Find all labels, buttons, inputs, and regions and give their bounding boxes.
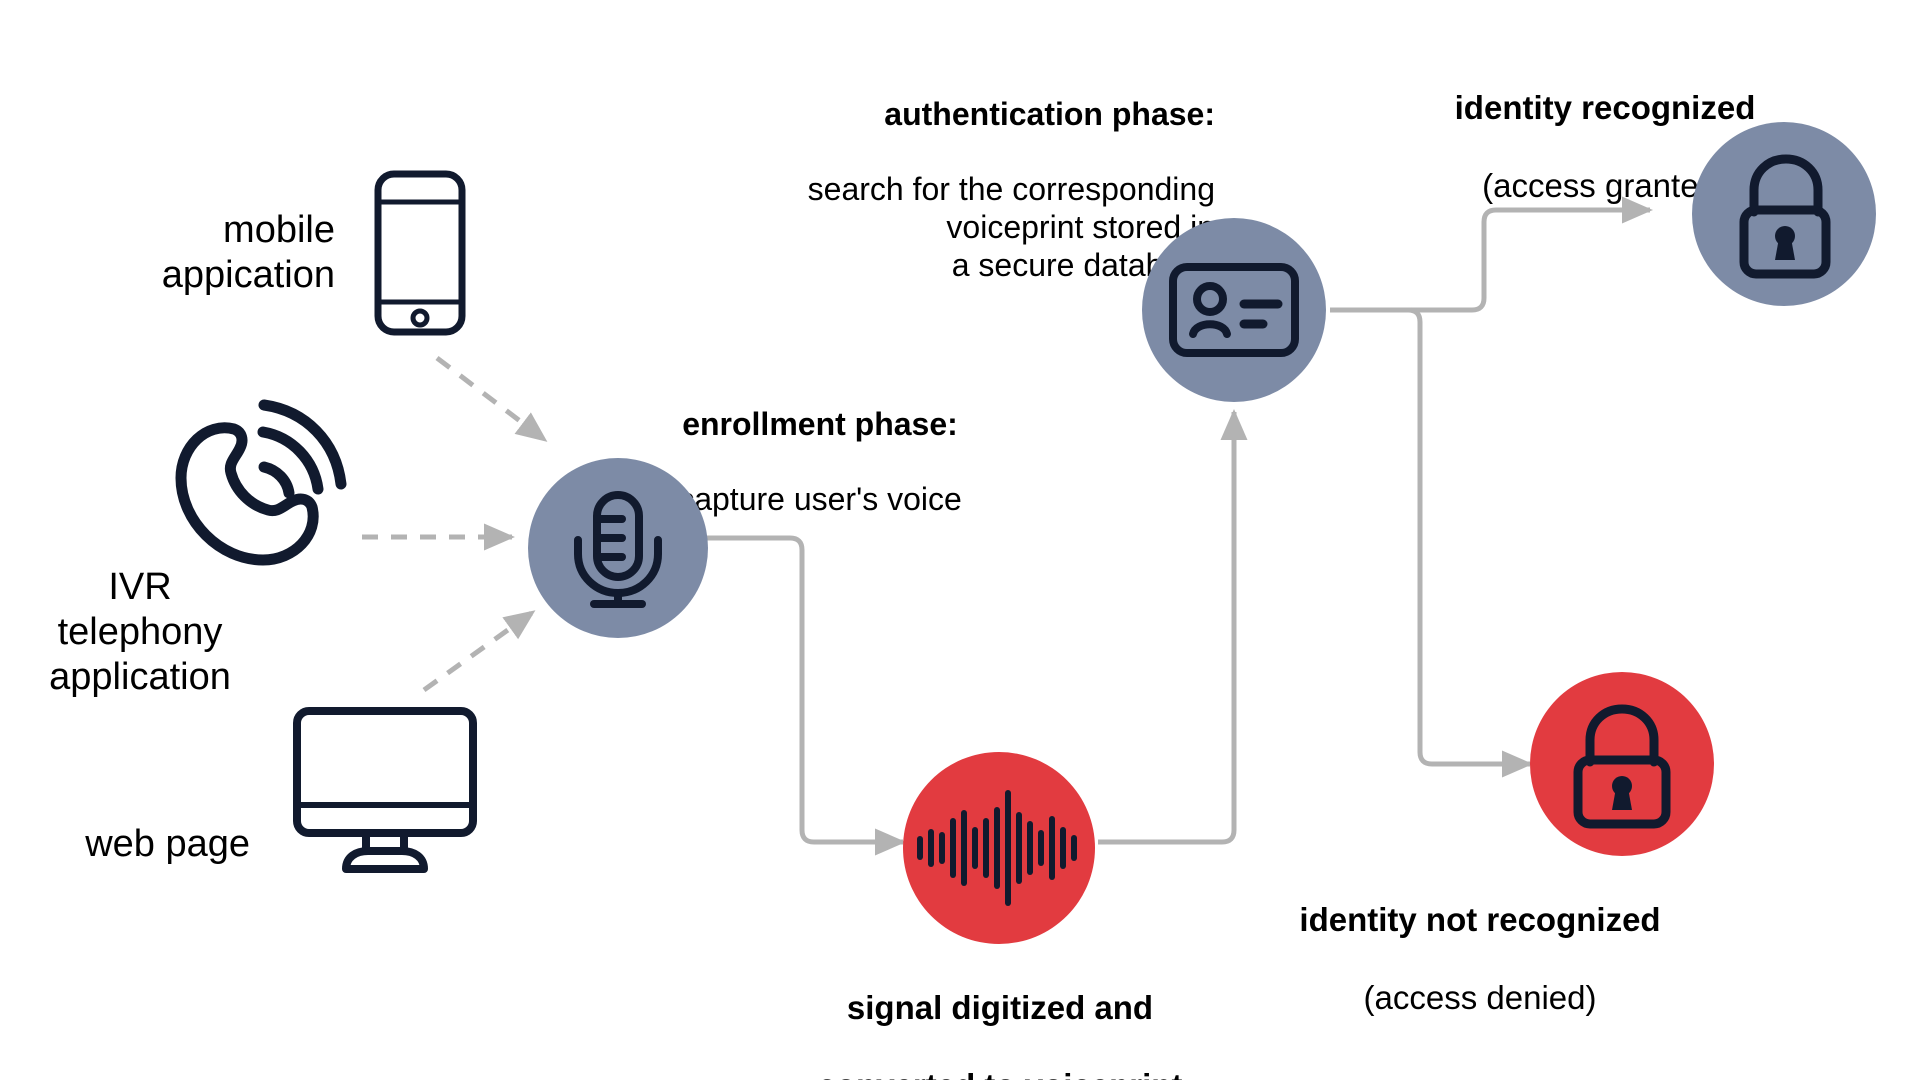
phone-ringing-icon (170, 405, 350, 565)
web-page-label: web page (30, 822, 250, 867)
wire-mobile-to-enrollment (437, 358, 545, 440)
locked-padlock-icon (1564, 704, 1680, 828)
identity-not-recognized-text: identity not recognized (access denied) (1180, 862, 1780, 1057)
unlocked-padlock-icon (1726, 154, 1842, 278)
identity-not-recognized-description: (access denied) (1180, 979, 1780, 1018)
authentication-phase-text: authentication phase: search for the cor… (620, 58, 1215, 322)
wire-enrollment-to-voiceprint (707, 538, 903, 842)
identity-recognized-heading: identity recognized (1310, 89, 1900, 128)
wire-web-to-enrollment (424, 612, 533, 690)
authentication-phase-heading: authentication phase: (620, 96, 1215, 134)
desktop-monitor-icon (290, 705, 480, 875)
audio-waveform-icon (914, 788, 1084, 908)
enrollment-phase-heading: enrollment phase: (620, 406, 1020, 444)
identity-not-recognized-heading: identity not recognized (1180, 901, 1780, 940)
access-denied-node (1530, 672, 1714, 856)
wire-authentication-to-denied (1330, 310, 1530, 764)
enrollment-node (528, 458, 708, 638)
diagram-canvas: mobile appication IVR telephony applicat… (0, 0, 1920, 1080)
wire-voiceprint-to-authentication (1098, 412, 1234, 842)
voiceprint-node (903, 752, 1095, 944)
id-card-icon (1168, 262, 1300, 358)
authentication-node (1142, 218, 1326, 402)
mobile-application-label: mobile appication (70, 208, 335, 298)
smartphone-icon (370, 168, 470, 338)
voiceprint-description: converted to voiceprint (580, 1067, 1420, 1080)
microphone-icon (564, 490, 672, 610)
authentication-phase-description: search for the corresponding voiceprint … (620, 171, 1215, 284)
access-granted-node (1692, 122, 1876, 306)
ivr-application-label: IVR telephony application (0, 565, 280, 699)
